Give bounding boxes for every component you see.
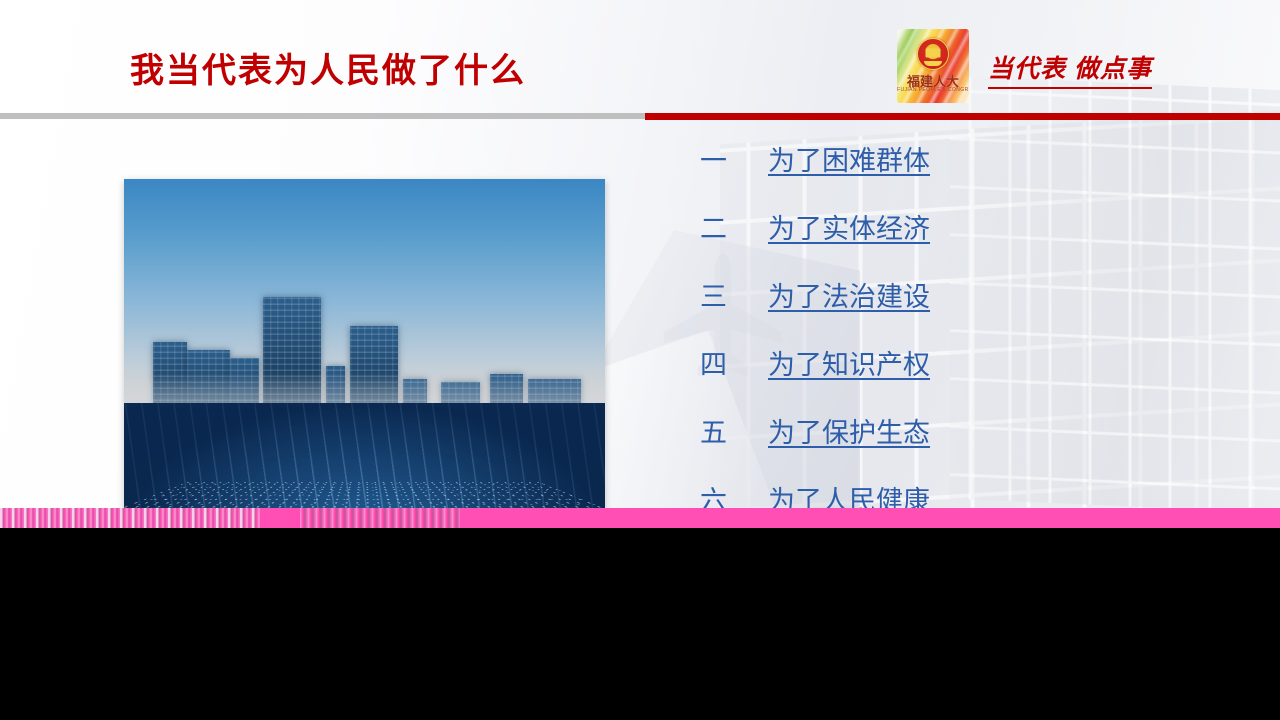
digital-network-field (124, 403, 605, 513)
agenda-item-3[interactable]: 三 为了法治建设 (700, 284, 1030, 352)
national-emblem-icon (917, 38, 949, 70)
agenda-item-1[interactable]: 一 为了困难群体 (700, 148, 1030, 216)
agenda-number: 三 (700, 284, 768, 311)
agenda-item-5[interactable]: 五 为了保护生态 (700, 420, 1030, 488)
artifact-noise-left (0, 508, 260, 528)
agenda-label[interactable]: 为了困难群体 (768, 148, 930, 175)
agenda-label[interactable]: 为了知识产权 (768, 352, 930, 379)
logo-subtext: FUJIAN PEOPLE'S CONGRESS (897, 87, 969, 93)
agenda-item-2[interactable]: 二 为了实体经济 (700, 216, 1030, 284)
artifact-noise-mid (300, 508, 460, 528)
agenda-item-4[interactable]: 四 为了知识产权 (700, 352, 1030, 420)
screen: 我当代表为人民做了什么 福建人大 FUJIAN PEOPLE'S CONGRES… (0, 0, 1280, 720)
agenda-number: 四 (700, 352, 768, 379)
agenda-list: 一 为了困难群体 二 为了实体经济 三 为了法治建设 四 为了知识产权 五 为了… (700, 148, 1030, 513)
agenda-label[interactable]: 为了保护生态 (768, 420, 930, 447)
agenda-label[interactable]: 为了实体经济 (768, 216, 930, 243)
agenda-number: 一 (700, 148, 768, 175)
agenda-label[interactable]: 为了法治建设 (768, 284, 930, 311)
network-waves (124, 403, 605, 513)
agenda-number: 五 (700, 420, 768, 447)
header-divider-red (645, 113, 1280, 120)
presentation-slide: 我当代表为人民做了什么 福建人大 FUJIAN PEOPLE'S CONGRES… (0, 0, 1280, 513)
agenda-number: 二 (700, 216, 768, 243)
fujian-renda-logo: 福建人大 FUJIAN PEOPLE'S CONGRESS (897, 29, 969, 103)
smart-city-photo (124, 179, 605, 513)
brand-slogan: 当代表 做点事 (988, 49, 1152, 89)
page-title: 我当代表为人民做了什么 (130, 43, 526, 92)
render-artifact-band (0, 508, 1280, 528)
letterbox-area (0, 528, 1280, 720)
header-divider-gray (0, 113, 645, 119)
